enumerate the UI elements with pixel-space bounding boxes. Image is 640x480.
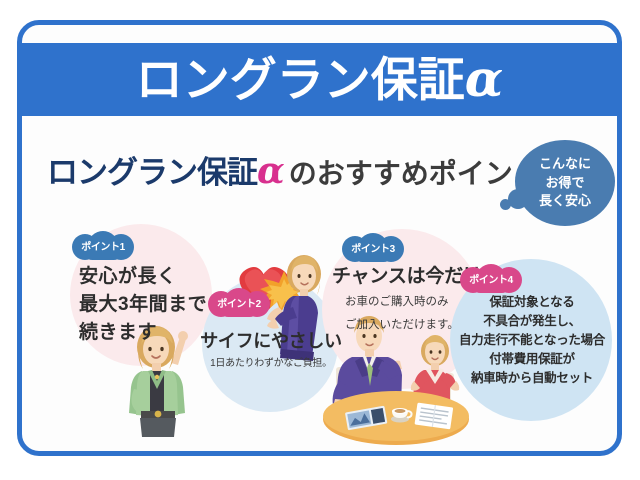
point-1-heading-line-3: 続きます	[79, 319, 207, 347]
subtitle-tail: のおすすめポイント	[289, 158, 541, 189]
poster-header-band: ロングラン保証α	[17, 43, 622, 116]
point-2-text: サイフにやさしい 1日あたりわずかなご負担。	[198, 330, 344, 371]
speech-bubble-line-2: お得で	[545, 174, 584, 193]
subtitle-brand: ロングラン保証	[47, 155, 257, 190]
subtitle-brand-alpha: α	[257, 150, 285, 192]
point-4-heading-line-3: 自力走行不能となった場合	[454, 331, 610, 350]
point-4-heading-line-2: 不具合が発生し、	[454, 312, 610, 331]
point-4-heading-line-1: 保証対象となる	[454, 293, 610, 312]
point-4-badge: ポイント4	[460, 264, 522, 293]
speech-bubble-line-3: 長く安心	[539, 192, 591, 211]
point-2-heading-line-1: サイフにやさしい	[198, 330, 344, 353]
point-4-heading-line-5: 納車時から自動セット	[454, 369, 610, 388]
point-1-badge: ポイント1	[72, 231, 134, 260]
poster-subtitle: ロングラン保証αのおすすめポイント	[47, 153, 541, 189]
point-2-badge: ポイント2	[208, 288, 270, 317]
poster-header-title: ロングラン保証α	[136, 54, 503, 104]
point-3-badge-label: ポイント3	[342, 233, 404, 262]
point-4-heading-line-4: 付帯費用保証が	[454, 350, 610, 369]
promo-speech-bubble: こんなに お得で 長く安心	[515, 140, 615, 226]
point-1-text: 安心が長く 最大3年間まで 続きます	[79, 263, 207, 347]
speech-bubble-line-1: こんなに	[539, 155, 591, 174]
header-title-main: ロングラン保証	[136, 53, 465, 106]
point-1-badge-label: ポイント1	[72, 231, 134, 260]
header-title-alpha: α	[465, 49, 503, 108]
point-4-text: 保証対象となる 不具合が発生し、 自力走行不能となった場合 付帯費用保証が 納車…	[454, 293, 610, 388]
point-1-heading-line-1: 安心が長く	[79, 263, 207, 291]
point-4-badge-label: ポイント4	[460, 264, 522, 293]
point-2-sub-line-1: 1日あたりわずかなご負担。	[198, 356, 344, 371]
poster-content-area: ロングラン保証αのおすすめポイント こんなに お得で 長く安心	[22, 121, 617, 451]
point-3-badge: ポイント3	[342, 233, 404, 262]
point-2-badge-label: ポイント2	[208, 288, 270, 317]
point-1-heading-line-2: 最大3年間まで	[79, 291, 207, 319]
promotional-poster: ロングラン保証α ロングラン保証αのおすすめポイント こんなに お得で 長く安心	[0, 0, 640, 480]
